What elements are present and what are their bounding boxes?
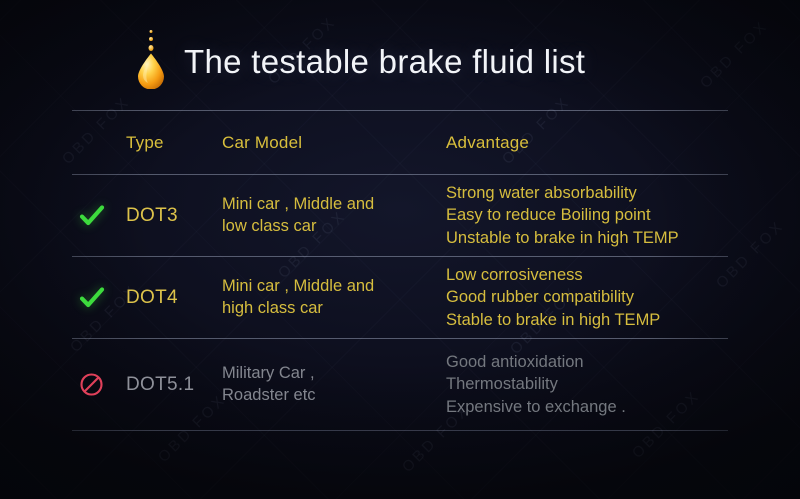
advantage-line: Strong water absorbability	[446, 182, 728, 204]
car-model-line: high class car	[222, 298, 446, 320]
advantage-line: Stable to brake in high TEMP	[446, 309, 728, 331]
page-title: The testable brake fluid list	[184, 45, 585, 78]
car-model-line: Roadster etc	[222, 385, 446, 407]
cell-car-model: Military Car , Roadster etc	[222, 363, 446, 407]
cell-advantage: Good antioxidation Thermostability Expen…	[446, 351, 728, 418]
table-row[interactable]: DOT3 Mini car , Middle and low class car…	[72, 175, 728, 256]
car-model-line: Military Car ,	[222, 363, 446, 385]
cell-type: DOT3	[126, 205, 222, 227]
cell-advantage: Low corrosiveness Good rubber compatibil…	[446, 264, 728, 331]
cell-car-model: Mini car , Middle and high class car	[222, 276, 446, 320]
cell-car-model: Mini car , Middle and low class car	[222, 194, 446, 238]
advantage-line: Good antioxidation	[446, 351, 728, 373]
advantage-line: Low corrosiveness	[446, 264, 728, 286]
header-cell-advantage: Advantage	[446, 133, 529, 152]
table-header-row: Type Car Model Advantage	[72, 111, 728, 174]
cell-type: DOT4	[126, 287, 222, 309]
cell-advantage: Strong water absorbability Easy to reduc…	[446, 182, 728, 249]
status-cell	[72, 372, 126, 397]
green-check-icon	[79, 203, 105, 229]
car-model-line: low class car	[222, 216, 446, 238]
brake-fluid-table: Type Car Model Advantage DOT3 Mini car ,…	[72, 110, 728, 431]
page-header: The testable brake fluid list	[134, 29, 585, 93]
table-row[interactable]: DOT5.1 Military Car , Roadster etc Good …	[72, 339, 728, 430]
advantage-line: Easy to reduce Boiling point	[446, 204, 728, 226]
table-bottom-rule	[72, 430, 728, 431]
oil-droplet-icon	[134, 29, 168, 93]
table-row[interactable]: DOT4 Mini car , Middle and high class ca…	[72, 257, 728, 338]
header-cell-type: Type	[126, 133, 164, 152]
status-cell	[72, 285, 126, 311]
brake-fluid-list-page: OBD FOX OBD FOX OBD FOX OBD FOX OBD FOX …	[0, 0, 800, 499]
car-model-line: Mini car , Middle and	[222, 276, 446, 298]
advantage-line: Expensive to exchange .	[446, 396, 728, 418]
green-check-icon	[79, 285, 105, 311]
advantage-line: Thermostability	[446, 373, 728, 395]
header-cell-car-model: Car Model	[222, 133, 302, 152]
watermark-text: OBD FOX	[697, 17, 772, 92]
car-model-line: Mini car , Middle and	[222, 194, 446, 216]
red-prohibited-icon	[79, 372, 104, 397]
advantage-line: Unstable to brake in high TEMP	[446, 227, 728, 249]
cell-type: DOT5.1	[126, 374, 222, 396]
advantage-line: Good rubber compatibility	[446, 286, 728, 308]
status-cell	[72, 203, 126, 229]
